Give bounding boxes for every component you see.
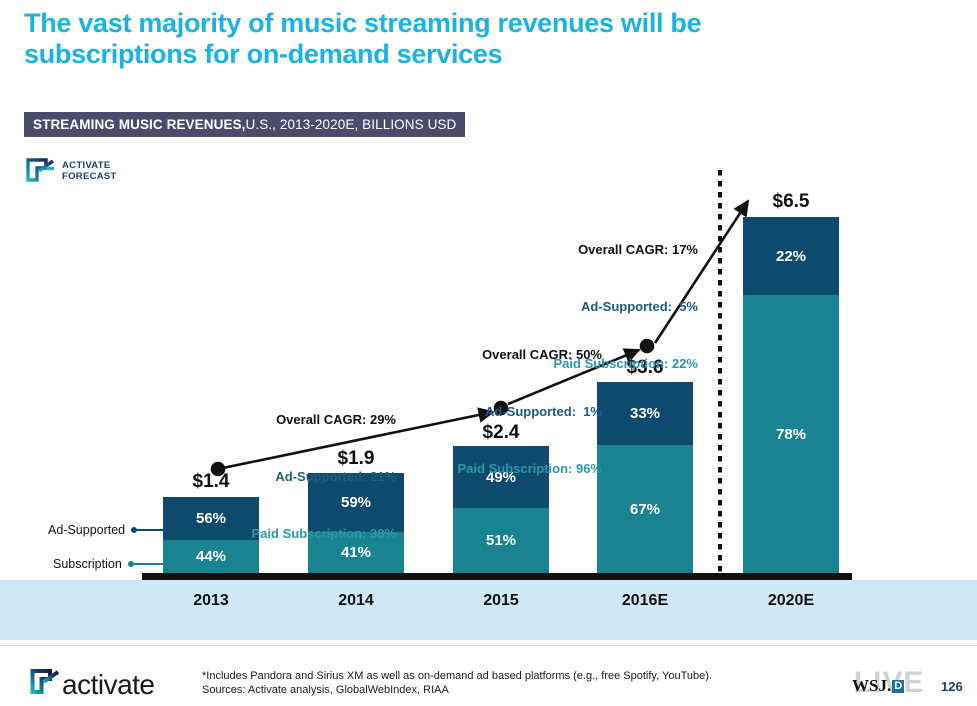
bar-total-label: $6.5	[743, 191, 839, 213]
cagr-paid-subscription: Paid Subscription: 22%	[492, 354, 698, 373]
cagr-overall: Overall CAGR: 29%	[190, 410, 396, 429]
slide-canvas: The vast majority of music streaming rev…	[0, 0, 977, 706]
activate-forecast-logo-icon	[26, 158, 56, 184]
x-axis-label-2020E: 2020E	[743, 592, 839, 610]
x-axis-band	[0, 580, 977, 640]
wsj-live-logo: LIVE WSJ. D	[843, 666, 935, 700]
footnote-text: *Includes Pandora and Sirius XM as well …	[202, 669, 712, 697]
cagr-annotation-2013-2014: Overall CAGR: 29% Ad-Supported: 21% Paid…	[190, 372, 396, 581]
legend-item-ad-supported: Ad-Supported	[48, 523, 181, 537]
legend-leader-line-ad-supported	[137, 529, 181, 531]
activate-footer-logo: activate	[30, 668, 155, 701]
cagr-annotation-2016e-2020e: Overall CAGR: 17% Ad-Supported: 5% Paid …	[492, 202, 698, 411]
legend-label-subscription: Subscription	[53, 557, 122, 571]
badge-line-forecast: FORECAST	[62, 171, 117, 182]
footnote-line-2: Sources: Activate analysis, GlobalWebInd…	[202, 683, 712, 697]
legend-leader-line-subscription	[134, 563, 173, 565]
forecast-divider-dotted-line	[718, 170, 722, 625]
chart-subtitle-strong: STREAMING MUSIC REVENUES,	[33, 117, 246, 132]
cagr-ad-supported: Ad-Supported: 21%	[190, 467, 396, 486]
activate-forecast-badge: ACTIVATE FORECAST	[26, 158, 117, 184]
bar-segment-subscription[interactable]: 51%	[453, 508, 549, 573]
chart-subtitle-bar: STREAMING MUSIC REVENUES, U.S., 2013-202…	[24, 112, 465, 137]
chart-subtitle-rest: U.S., 2013-2020E, BILLIONS USD	[246, 117, 457, 132]
footnote-line-1: *Includes Pandora and Sirius XM as well …	[202, 669, 712, 683]
badge-line-activate: ACTIVATE	[62, 160, 111, 171]
wsj-wordmark: WSJ.	[852, 676, 891, 696]
activate-logo-icon	[30, 668, 60, 701]
x-axis-label-2016E: 2016E	[597, 592, 693, 610]
x-axis-label-2013: 2013	[163, 592, 259, 610]
cagr-ad-supported: Ad-Supported: 5%	[492, 297, 698, 316]
cagr-overall: Overall CAGR: 17%	[492, 240, 698, 259]
x-axis-label-2015: 2015	[453, 592, 549, 610]
footer-divider	[0, 645, 977, 646]
cagr-paid-subscription: Paid Subscription: 38%	[190, 524, 396, 543]
bar-segment-ad-supported[interactable]: 22%	[743, 217, 839, 295]
legend-label-ad-supported: Ad-Supported	[48, 523, 125, 537]
bar-segment-subscription[interactable]: 67%	[597, 445, 693, 573]
bar-segment-subscription[interactable]: 78%	[743, 295, 839, 573]
page-number: 126	[941, 679, 963, 694]
page-title: The vast majority of music streaming rev…	[24, 8, 784, 70]
x-axis-label-2014: 2014	[308, 592, 404, 610]
chart-baseline	[142, 573, 852, 580]
wsj-d-mark: WSJ. D	[852, 676, 904, 696]
cagr-paid-subscription: Paid Subscription: 96%	[396, 459, 602, 478]
activate-forecast-badge-text: ACTIVATE FORECAST	[62, 160, 117, 182]
wsj-d-box: D	[892, 680, 904, 693]
legend-item-subscription: Subscription	[53, 557, 173, 571]
stacked-bar[interactable]: 22%78%	[743, 217, 839, 573]
activate-logo-wordmark: activate	[62, 671, 155, 699]
